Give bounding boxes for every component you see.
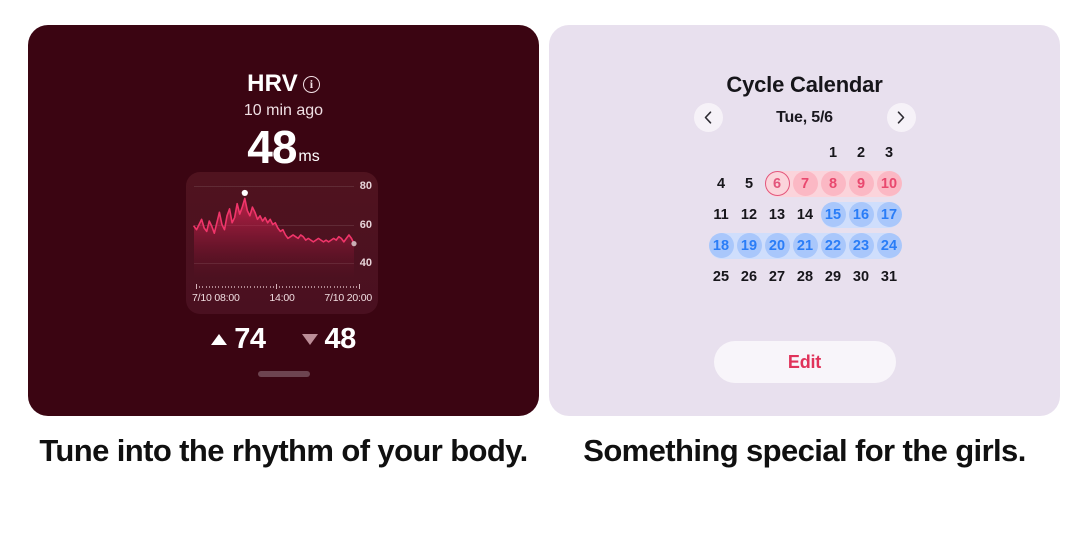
hrv-line-chart — [186, 172, 378, 277]
calendar-day[interactable]: 7 — [791, 168, 819, 199]
calendar-day-label: 2 — [849, 140, 874, 165]
info-icon[interactable]: i — [303, 76, 320, 93]
calendar-day[interactable]: 2 — [847, 137, 875, 168]
calendar-day[interactable]: 23 — [847, 230, 875, 261]
calendar-day[interactable]: 17 — [875, 199, 903, 230]
calendar-week-row: 25262728293031 — [707, 261, 903, 292]
edit-button[interactable]: Edit — [714, 341, 896, 383]
calendar-day[interactable]: 24 — [875, 230, 903, 261]
chevron-right-icon[interactable] — [887, 103, 916, 132]
calendar-day-empty — [763, 137, 791, 168]
calendar-day-label: 27 — [765, 264, 790, 289]
hrv-min-value: 48 — [325, 323, 356, 356]
calendar-day[interactable]: 12 — [735, 199, 763, 230]
calendar-day-label: 1 — [821, 140, 846, 165]
calendar-day-label: 3 — [877, 140, 902, 165]
calendar-day[interactable]: 8 — [819, 168, 847, 199]
caption-hrv: Tune into the rhythm of your body. — [28, 430, 539, 473]
calendar-day-label: 14 — [793, 202, 818, 227]
calendar-day[interactable]: 16 — [847, 199, 875, 230]
x-axis-label-start: 7/10 08:00 — [192, 292, 240, 304]
calendar-day-label: 28 — [793, 264, 818, 289]
calendar-day[interactable]: 20 — [763, 230, 791, 261]
calendar-day-label: 8 — [821, 171, 846, 196]
calendar-day[interactable]: 14 — [791, 199, 819, 230]
calendar-day[interactable]: 11 — [707, 199, 735, 230]
hrv-title-row: HRV i — [28, 70, 539, 98]
calendar-day-label: 18 — [709, 233, 734, 258]
calendar-day[interactable]: 15 — [819, 199, 847, 230]
hrv-timestamp: 10 min ago — [28, 102, 539, 120]
calendar-day[interactable]: 3 — [875, 137, 903, 168]
calendar-day-label: 31 — [877, 264, 902, 289]
hrv-max: 74 — [211, 323, 265, 356]
calendar-day-label: 23 — [849, 233, 874, 258]
calendar-day-label: 29 — [821, 264, 846, 289]
calendar-day[interactable]: 22 — [819, 230, 847, 261]
calendar-day[interactable]: 13 — [763, 199, 791, 230]
calendar-day[interactable]: 29 — [819, 261, 847, 292]
calendar-day[interactable]: 26 — [735, 261, 763, 292]
calendar-day-label: 11 — [709, 202, 734, 227]
cycle-current-date: Tue, 5/6 — [766, 109, 844, 127]
calendar-grid: 1234567891011121314151617181920212223242… — [707, 137, 903, 292]
hrv-chart-card[interactable]: 80 60 40 — [186, 172, 378, 314]
calendar-day-label: 16 — [849, 202, 874, 227]
calendar-day[interactable]: 30 — [847, 261, 875, 292]
calendar-day-label: 5 — [737, 171, 762, 196]
cycle-nav: Tue, 5/6 — [549, 103, 1060, 132]
caption-cycle: Something special for the girls. — [549, 430, 1060, 473]
calendar-day-label: 20 — [765, 233, 790, 258]
calendar-day[interactable]: 5 — [735, 168, 763, 199]
calendar-day-label: 17 — [877, 202, 902, 227]
cycle-card: Cycle Calendar Tue, 5/6 1234567891011121… — [549, 25, 1060, 416]
hrv-range-row: 74 48 — [28, 323, 539, 356]
x-axis-dot-rule — [196, 285, 360, 289]
calendar-day-empty — [735, 137, 763, 168]
calendar-day[interactable]: 28 — [791, 261, 819, 292]
calendar-day-label: 24 — [877, 233, 902, 258]
calendar-day[interactable]: 27 — [763, 261, 791, 292]
panel-cycle: Cycle Calendar Tue, 5/6 1234567891011121… — [549, 0, 1061, 544]
screenshot-stage: HRV i 10 min ago 48 ms 80 60 — [0, 0, 1089, 544]
calendar-day[interactable]: 18 — [707, 230, 735, 261]
calendar-day[interactable]: 9 — [847, 168, 875, 199]
calendar-week-row: 11121314151617 — [707, 199, 903, 230]
hrv-card: HRV i 10 min ago 48 ms 80 60 — [28, 25, 539, 416]
calendar-day-label: 13 — [765, 202, 790, 227]
calendar-day-label: 9 — [849, 171, 874, 196]
triangle-up-icon — [211, 334, 227, 345]
page-title: HRV — [247, 70, 298, 98]
calendar-day-empty — [707, 137, 735, 168]
triangle-down-icon — [302, 334, 318, 345]
hrv-chart-plot: 80 60 40 — [186, 172, 378, 277]
calendar-day-label: 25 — [709, 264, 734, 289]
cycle-title: Cycle Calendar — [549, 72, 1060, 98]
calendar-day[interactable]: 21 — [791, 230, 819, 261]
calendar-day[interactable]: 25 — [707, 261, 735, 292]
hrv-value-row: 48 ms — [28, 122, 539, 173]
hrv-max-value: 74 — [234, 323, 265, 356]
calendar-day-label: 12 — [737, 202, 762, 227]
hrv-unit: ms — [298, 148, 319, 173]
calendar-day-label: 30 — [849, 264, 874, 289]
x-axis-label-mid: 14:00 — [269, 292, 294, 304]
calendar-day-label: 21 — [793, 233, 818, 258]
panel-hrv: HRV i 10 min ago 48 ms 80 60 — [28, 0, 540, 544]
calendar-day[interactable]: 1 — [819, 137, 847, 168]
calendar-day-label: 7 — [793, 171, 818, 196]
calendar-day[interactable]: 4 — [707, 168, 735, 199]
calendar-day-label: 6 — [765, 171, 790, 196]
x-axis-labels: 7/10 08:00 14:00 7/10 20:00 — [192, 292, 372, 304]
home-indicator — [258, 371, 310, 377]
calendar-week-row: 18192021222324 — [707, 230, 903, 261]
calendar-day-label: 26 — [737, 264, 762, 289]
calendar-day[interactable]: 10 — [875, 168, 903, 199]
calendar-week-row: 45678910 — [707, 168, 903, 199]
calendar-day-label: 10 — [877, 171, 902, 196]
calendar-day-label: 4 — [709, 171, 734, 196]
calendar-day[interactable]: 31 — [875, 261, 903, 292]
calendar-day-label: 19 — [737, 233, 762, 258]
hrv-value: 48 — [247, 122, 296, 173]
calendar-day[interactable]: 6 — [763, 168, 791, 199]
hrv-min: 48 — [302, 323, 356, 356]
calendar-day-label: 15 — [821, 202, 846, 227]
calendar-week-row: 123 — [707, 137, 903, 168]
chevron-left-icon[interactable] — [694, 103, 723, 132]
calendar-day-empty — [791, 137, 819, 168]
x-axis-label-end: 7/10 20:00 — [324, 292, 372, 304]
calendar-day-label: 22 — [821, 233, 846, 258]
calendar-day[interactable]: 19 — [735, 230, 763, 261]
